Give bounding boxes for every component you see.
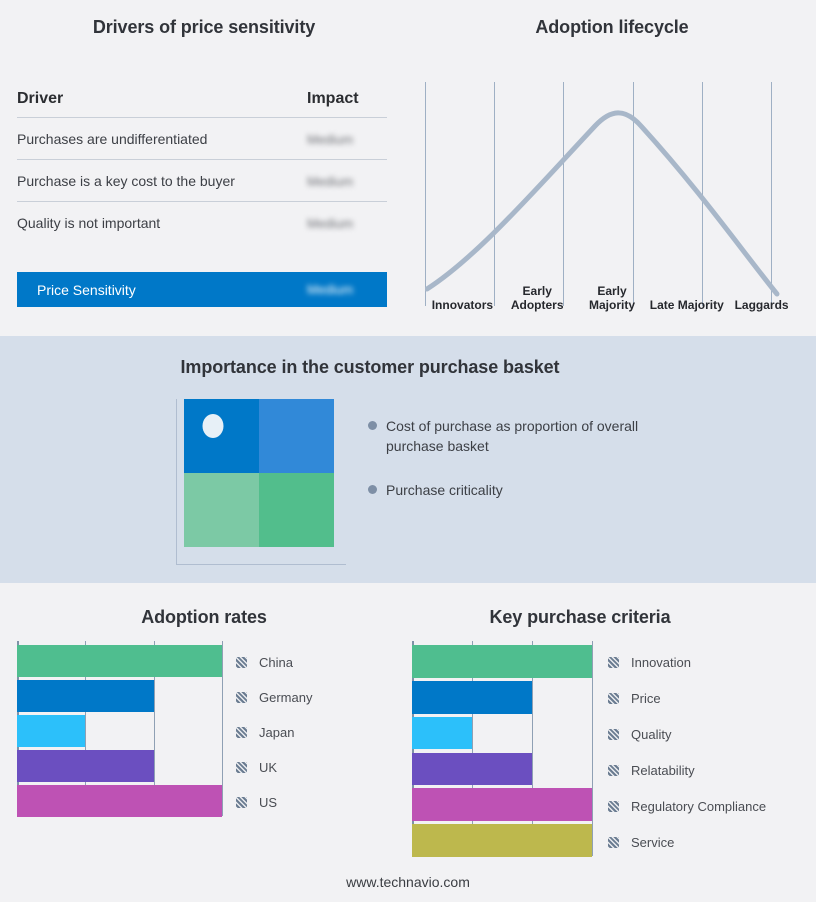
bar-germany	[17, 680, 154, 712]
table-row: Purchases are undifferentiated Medium	[17, 118, 387, 160]
legend-swatch-icon	[608, 801, 619, 812]
legend-item: Purchase criticality	[368, 480, 768, 500]
legend-item: China	[236, 645, 312, 680]
bar-uk	[17, 750, 154, 782]
legend-swatch-icon	[608, 693, 619, 704]
legend-label: Quality	[631, 727, 671, 742]
bullet-icon	[368, 485, 377, 494]
quadrant-cell-top-left	[184, 399, 259, 473]
table-row: Purchase is a key cost to the buyer Medi…	[17, 160, 387, 202]
bar-quality	[412, 717, 472, 750]
legend-swatch-icon	[608, 729, 619, 740]
lifecycle-stage-labels: Innovators Early Adopters Early Majority…	[425, 268, 799, 312]
summary-impact: Medium	[307, 281, 387, 299]
legend-label: Japan	[259, 725, 294, 740]
impact-value: Medium	[307, 173, 387, 189]
impact-value-text: Medium	[307, 132, 353, 147]
importance-title: Importance in the customer purchase bask…	[0, 357, 740, 378]
legend-label: China	[259, 655, 293, 670]
lifecycle-stage-early-adopters: Early Adopters	[500, 268, 575, 312]
bar-relatability	[412, 753, 532, 786]
legend-swatch-icon	[608, 657, 619, 668]
key-purchase-criteria-plot	[412, 641, 592, 856]
importance-legend: Cost of purchase as proportion of overal…	[368, 416, 768, 524]
impact-value: Medium	[307, 215, 387, 231]
legend-label: Service	[631, 835, 674, 850]
impact-value: Medium	[307, 131, 387, 147]
adoption-rates-legend: ChinaGermanyJapanUKUS	[236, 645, 312, 820]
bullet-icon	[368, 421, 377, 430]
lifecycle-stage-innovators: Innovators	[425, 268, 500, 312]
legend-label: UK	[259, 760, 277, 775]
bar-service	[412, 824, 592, 857]
legend-item: Quality	[608, 717, 766, 753]
importance-panel: Importance in the customer purchase bask…	[0, 336, 816, 583]
key-purchase-criteria-title: Key purchase criteria	[400, 607, 760, 628]
lifecycle-curve	[427, 113, 777, 294]
key-purchase-criteria-panel: Key purchase criteria InnovationPriceQua…	[400, 583, 816, 902]
table-row: Quality is not important Medium	[17, 202, 387, 243]
key-purchase-criteria-legend: InnovationPriceQualityRelatabilityRegula…	[608, 645, 766, 860]
column-header-impact: Impact	[307, 90, 387, 108]
legend-swatch-icon	[236, 692, 247, 703]
bar-china	[17, 645, 222, 677]
bar-price	[412, 681, 532, 714]
adoption-lifecycle-panel: Adoption lifecycle Innovators Early Adop…	[408, 0, 816, 336]
quadrant-cell-bottom-right	[259, 473, 334, 547]
legend-swatch-icon	[608, 837, 619, 848]
legend-item: Service	[608, 824, 766, 860]
adoption-rates-panel: Adoption rates ChinaGermanyJapanUKUS	[0, 583, 408, 902]
drivers-title: Drivers of price sensitivity	[0, 17, 408, 38]
column-header-driver: Driver	[17, 90, 307, 108]
legend-item: Price	[608, 681, 766, 717]
adoption-rates-title: Adoption rates	[0, 607, 408, 628]
legend-label: Price	[631, 691, 661, 706]
driver-label: Purchases are undifferentiated	[17, 131, 307, 147]
legend-item: UK	[236, 750, 312, 785]
quadrant-y-axis	[176, 399, 177, 565]
legend-label: Cost of purchase as proportion of overal…	[386, 416, 648, 456]
lifecycle-stage-early-majority: Early Majority	[575, 268, 650, 312]
footer-url: www.technavio.com	[0, 874, 816, 890]
legend-item: Regulatory Compliance	[608, 788, 766, 824]
drivers-panel: Drivers of price sensitivity Driver Impa…	[0, 0, 408, 336]
legend-swatch-icon	[608, 765, 619, 776]
quadrant-chart	[176, 399, 346, 565]
legend-item: Japan	[236, 715, 312, 750]
quadrant-grid	[184, 399, 334, 547]
adoption-rates-plot	[17, 641, 222, 816]
bar-us	[17, 785, 222, 817]
summary-impact-text: Medium	[307, 282, 353, 297]
legend-item: Relatability	[608, 752, 766, 788]
legend-swatch-icon	[236, 657, 247, 668]
impact-value-text: Medium	[307, 174, 353, 189]
bar-regulatory-compliance	[412, 788, 592, 821]
lifecycle-title: Adoption lifecycle	[408, 17, 816, 38]
summary-label: Price Sensitivity	[17, 282, 307, 298]
bar-japan	[17, 715, 85, 747]
quadrant-marker-dot	[202, 414, 223, 438]
legend-label: Germany	[259, 690, 312, 705]
lifecycle-stage-late-majority: Late Majority	[649, 268, 724, 312]
legend-item: Innovation	[608, 645, 766, 681]
gridline	[592, 641, 593, 856]
impact-value-text: Medium	[307, 216, 353, 231]
lifecycle-stage-laggards: Laggards	[724, 268, 799, 312]
legend-label: Regulatory Compliance	[631, 799, 766, 814]
legend-item: Cost of purchase as proportion of overal…	[368, 416, 768, 456]
table-header-row: Driver Impact	[17, 90, 387, 118]
driver-label: Quality is not important	[17, 215, 307, 231]
gridline	[222, 641, 223, 816]
quadrant-cell-top-right	[259, 399, 334, 473]
legend-swatch-icon	[236, 797, 247, 808]
drivers-table: Driver Impact Purchases are undifferenti…	[17, 90, 387, 243]
price-sensitivity-summary-row: Price Sensitivity Medium	[17, 272, 387, 307]
legend-label: Relatability	[631, 763, 695, 778]
legend-swatch-icon	[236, 727, 247, 738]
legend-swatch-icon	[236, 762, 247, 773]
legend-item: Germany	[236, 680, 312, 715]
driver-label: Purchase is a key cost to the buyer	[17, 173, 307, 189]
legend-label: US	[259, 795, 277, 810]
legend-label: Innovation	[631, 655, 691, 670]
quadrant-cell-bottom-left	[184, 473, 259, 547]
bar-innovation	[412, 645, 592, 678]
quadrant-x-axis	[176, 564, 346, 565]
legend-item: US	[236, 785, 312, 820]
legend-label: Purchase criticality	[386, 480, 503, 500]
